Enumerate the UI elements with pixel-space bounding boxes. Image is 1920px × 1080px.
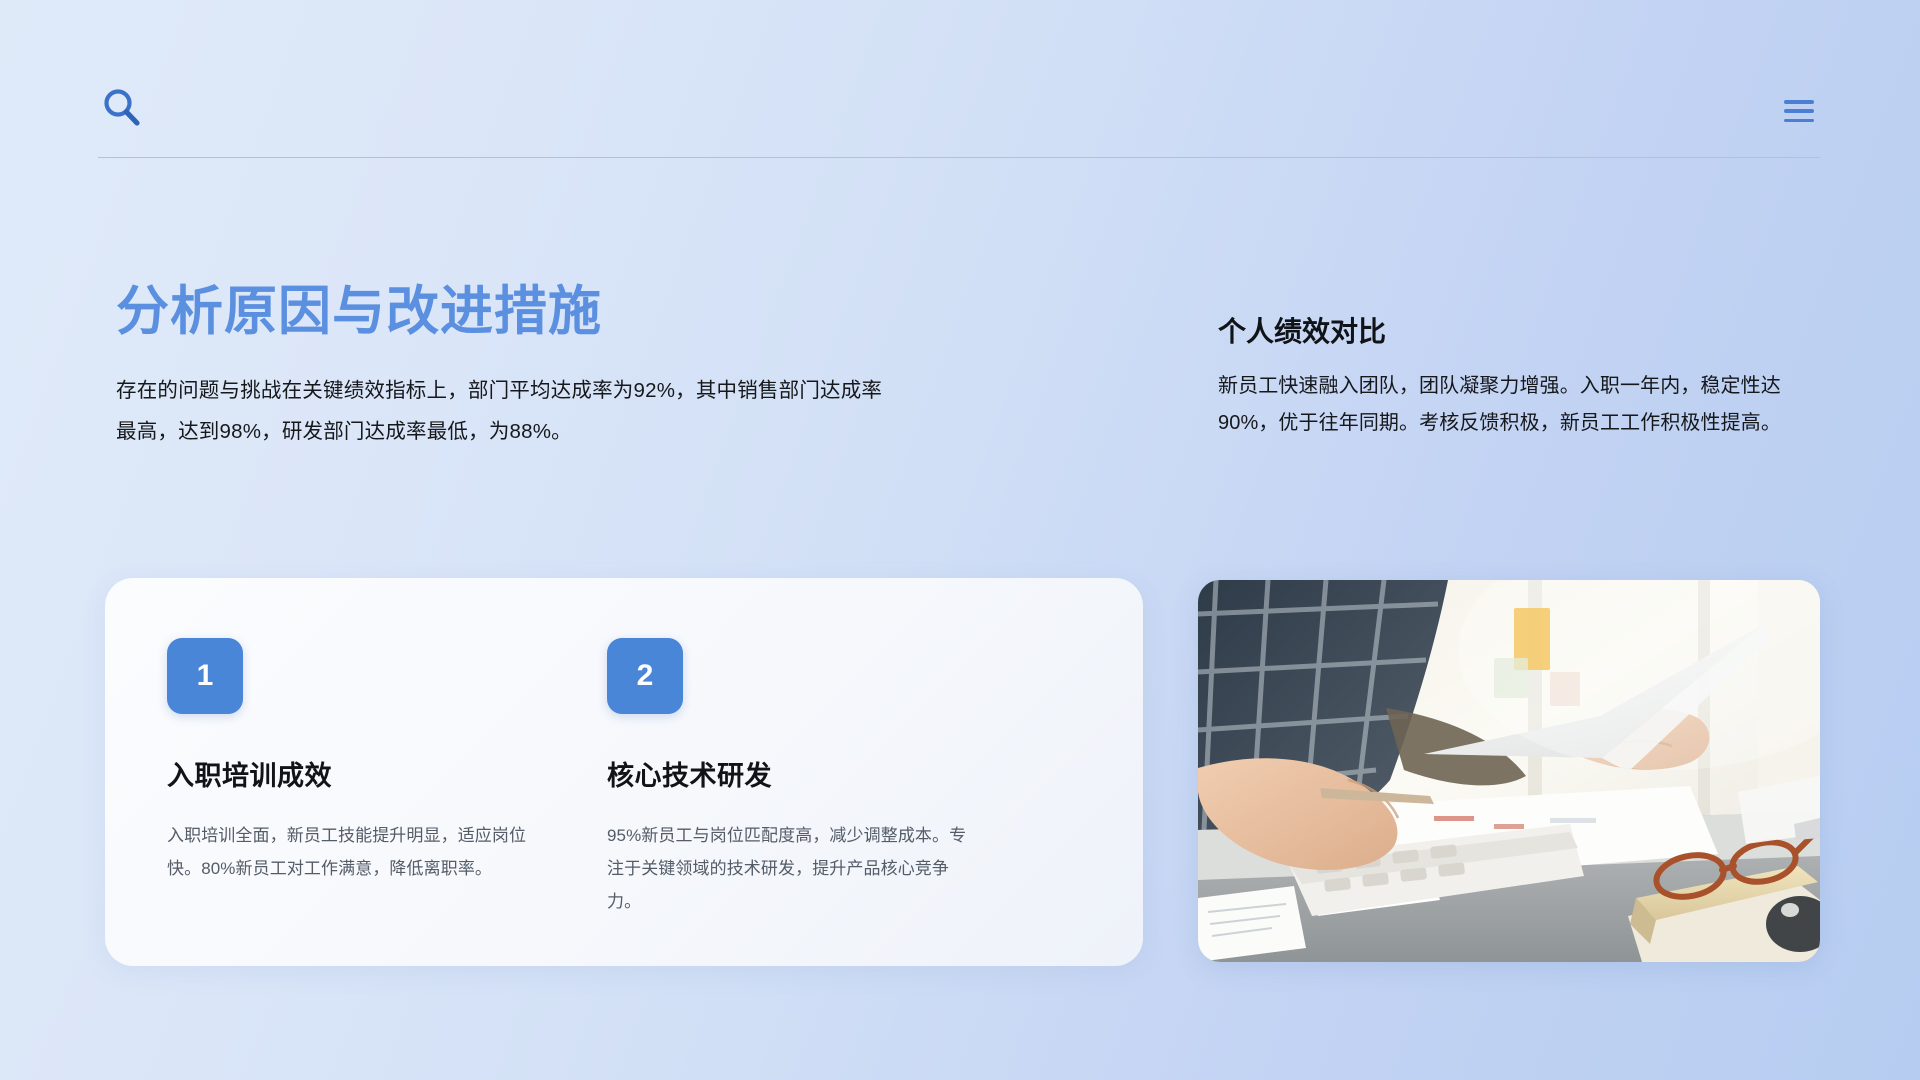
hamburger-bar-1 — [1784, 100, 1814, 104]
feature-number-badge-2: 2 — [607, 638, 683, 714]
feature-item-2: 2 核心技术研发 95%新员工与岗位匹配度高，减少调整成本。专注于关键领域的技术… — [607, 638, 967, 918]
feature-title-2: 核心技术研发 — [607, 754, 967, 793]
page-header — [98, 78, 1820, 158]
feature-desc-1: 入职培训全面，新员工技能提升明显，适应岗位快。80%新员工对工作满意，降低离职率… — [167, 819, 527, 885]
feature-number-badge-1: 1 — [167, 638, 243, 714]
section-title-performance: 个人绩效对比 — [1218, 310, 1386, 350]
feature-desc-2: 95%新员工与岗位匹配度高，减少调整成本。专注于关键领域的技术研发，提升产品核心… — [607, 819, 967, 918]
search-icon[interactable] — [102, 88, 144, 130]
features-list: 1 入职培训成效 入职培训全面，新员工技能提升明显，适应岗位快。80%新员工对工… — [167, 638, 967, 918]
search-icon-glyph — [102, 88, 144, 130]
page-intro-paragraph: 存在的问题与挑战在关键绩效指标上，部门平均达成率为92%，其中销售部门达成率最高… — [116, 370, 886, 452]
feature-title-1: 入职培训成效 — [167, 754, 527, 793]
office-photo-illustration — [1198, 580, 1820, 962]
office-photo — [1198, 580, 1820, 962]
feature-item-1: 1 入职培训成效 入职培训全面，新员工技能提升明显，适应岗位快。80%新员工对工… — [167, 638, 527, 918]
hamburger-bar-3 — [1784, 119, 1814, 123]
features-card: 1 入职培训成效 入职培训全面，新员工技能提升明显，适应岗位快。80%新员工对工… — [105, 578, 1143, 966]
page-title: 分析原因与改进措施 — [116, 280, 602, 344]
hamburger-bar-2 — [1784, 109, 1814, 113]
section-paragraph-performance: 新员工快速融入团队，团队凝聚力增强。入职一年内，稳定性达90%，优于往年同期。考… — [1218, 368, 1818, 442]
hamburger-menu-icon[interactable] — [1784, 100, 1814, 122]
